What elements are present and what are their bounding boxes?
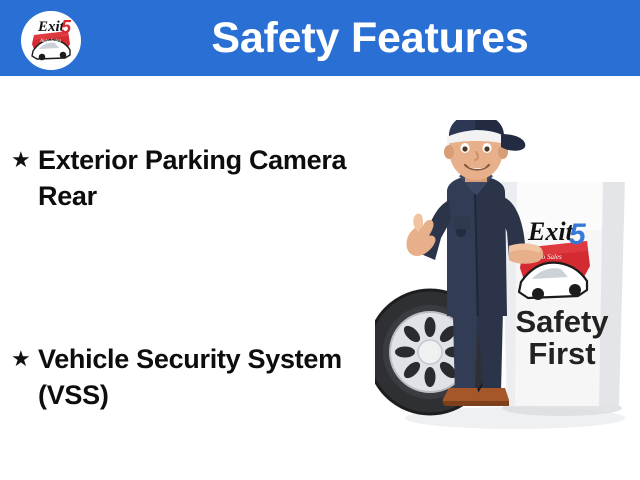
banner-line-1: Safety <box>515 304 609 339</box>
page-title: Safety Features <box>100 0 640 76</box>
star-bullet-icon: ★ <box>8 142 38 178</box>
safety-features-list: ★ Exterior Parking Camera Rear ★ Vehicle… <box>0 76 370 480</box>
feature-label: Vehicle Security System (VSS) <box>38 341 358 413</box>
star-bullet-icon: ★ <box>8 341 38 377</box>
feature-label: Exterior Parking Camera Rear <box>38 142 358 214</box>
svg-text:Auto Sales: Auto Sales <box>39 39 61 44</box>
mechanic-with-safety-banner-illustration: Exit 5 Auto Sales Safety First <box>375 120 640 440</box>
list-item: ★ Vehicle Security System (VSS) <box>8 341 358 413</box>
page-header: Exit 5 Auto Sales Safety Features <box>0 0 640 76</box>
banner-line-2: First <box>528 336 595 371</box>
list-item: ★ Exterior Parking Camera Rear <box>8 142 358 214</box>
svg-text:5: 5 <box>61 17 72 37</box>
safety-first-banner <box>501 178 625 416</box>
exit5-logo: Exit 5 Auto Sales <box>21 11 81 70</box>
